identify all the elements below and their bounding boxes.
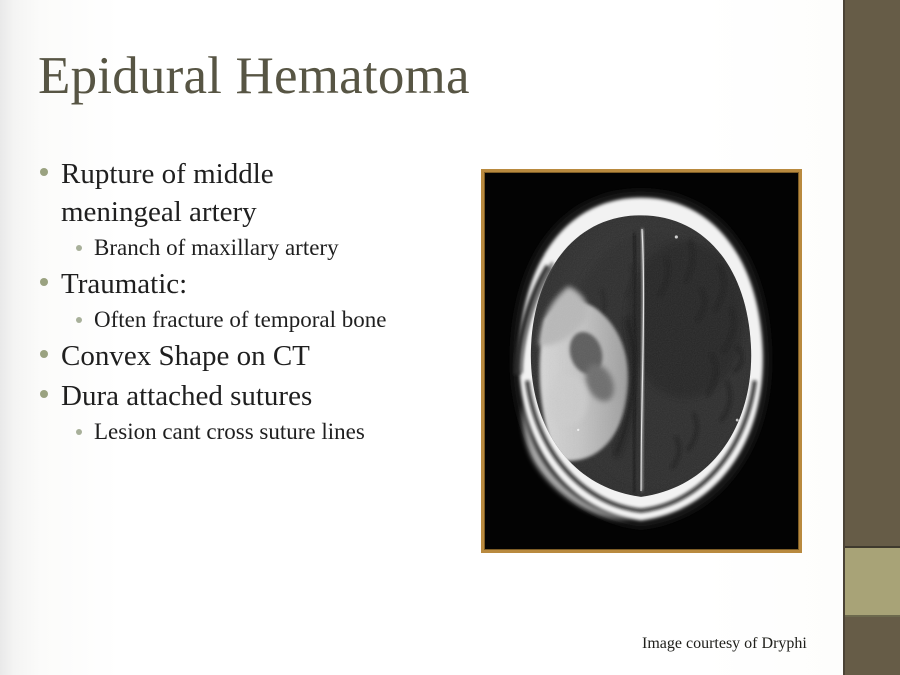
ct-scan-graphic xyxy=(484,172,799,550)
bullet-dot-icon xyxy=(40,350,48,358)
list-item-label: Dura attached sutures xyxy=(61,377,312,415)
slide-canvas: Epidural Hematoma Rupture of middle meni… xyxy=(0,0,900,675)
list-item-label: Often fracture of temporal bone xyxy=(94,305,386,335)
bullet-dot-icon xyxy=(40,168,48,176)
list-item: Traumatic: xyxy=(40,265,460,303)
list-item-label: Branch of maxillary artery xyxy=(94,233,339,263)
sidebar-band-bottom xyxy=(845,617,900,675)
bullet-dot-icon xyxy=(40,390,48,398)
list-item-label: Rupture of middle meningeal artery xyxy=(61,155,361,231)
decorative-sidebar xyxy=(843,0,900,675)
list-item: Rupture of middle meningeal artery xyxy=(40,155,460,231)
list-item-label: Traumatic: xyxy=(61,265,187,303)
list-item: Lesion cant cross suture lines xyxy=(76,417,460,447)
list-item: Dura attached sutures xyxy=(40,377,460,415)
list-item: Convex Shape on CT xyxy=(40,337,460,375)
bullet-dot-icon xyxy=(40,278,48,286)
bullet-list: Rupture of middle meningeal artery Branc… xyxy=(40,155,460,449)
page-title: Epidural Hematoma xyxy=(38,44,470,108)
image-credit-caption: Image courtesy of Dryphi xyxy=(642,634,807,654)
sidebar-band-top xyxy=(845,0,900,548)
list-item: Branch of maxillary artery xyxy=(76,233,460,263)
sidebar-band-accent xyxy=(845,548,900,617)
sub-bullet-dot-icon xyxy=(76,317,82,323)
sub-bullet-dot-icon xyxy=(76,245,82,251)
list-item-label: Lesion cant cross suture lines xyxy=(94,417,365,447)
list-item-label: Convex Shape on CT xyxy=(61,337,310,375)
list-item: Often fracture of temporal bone xyxy=(76,305,460,335)
ct-scan-image xyxy=(481,169,802,553)
sub-bullet-dot-icon xyxy=(76,429,82,435)
